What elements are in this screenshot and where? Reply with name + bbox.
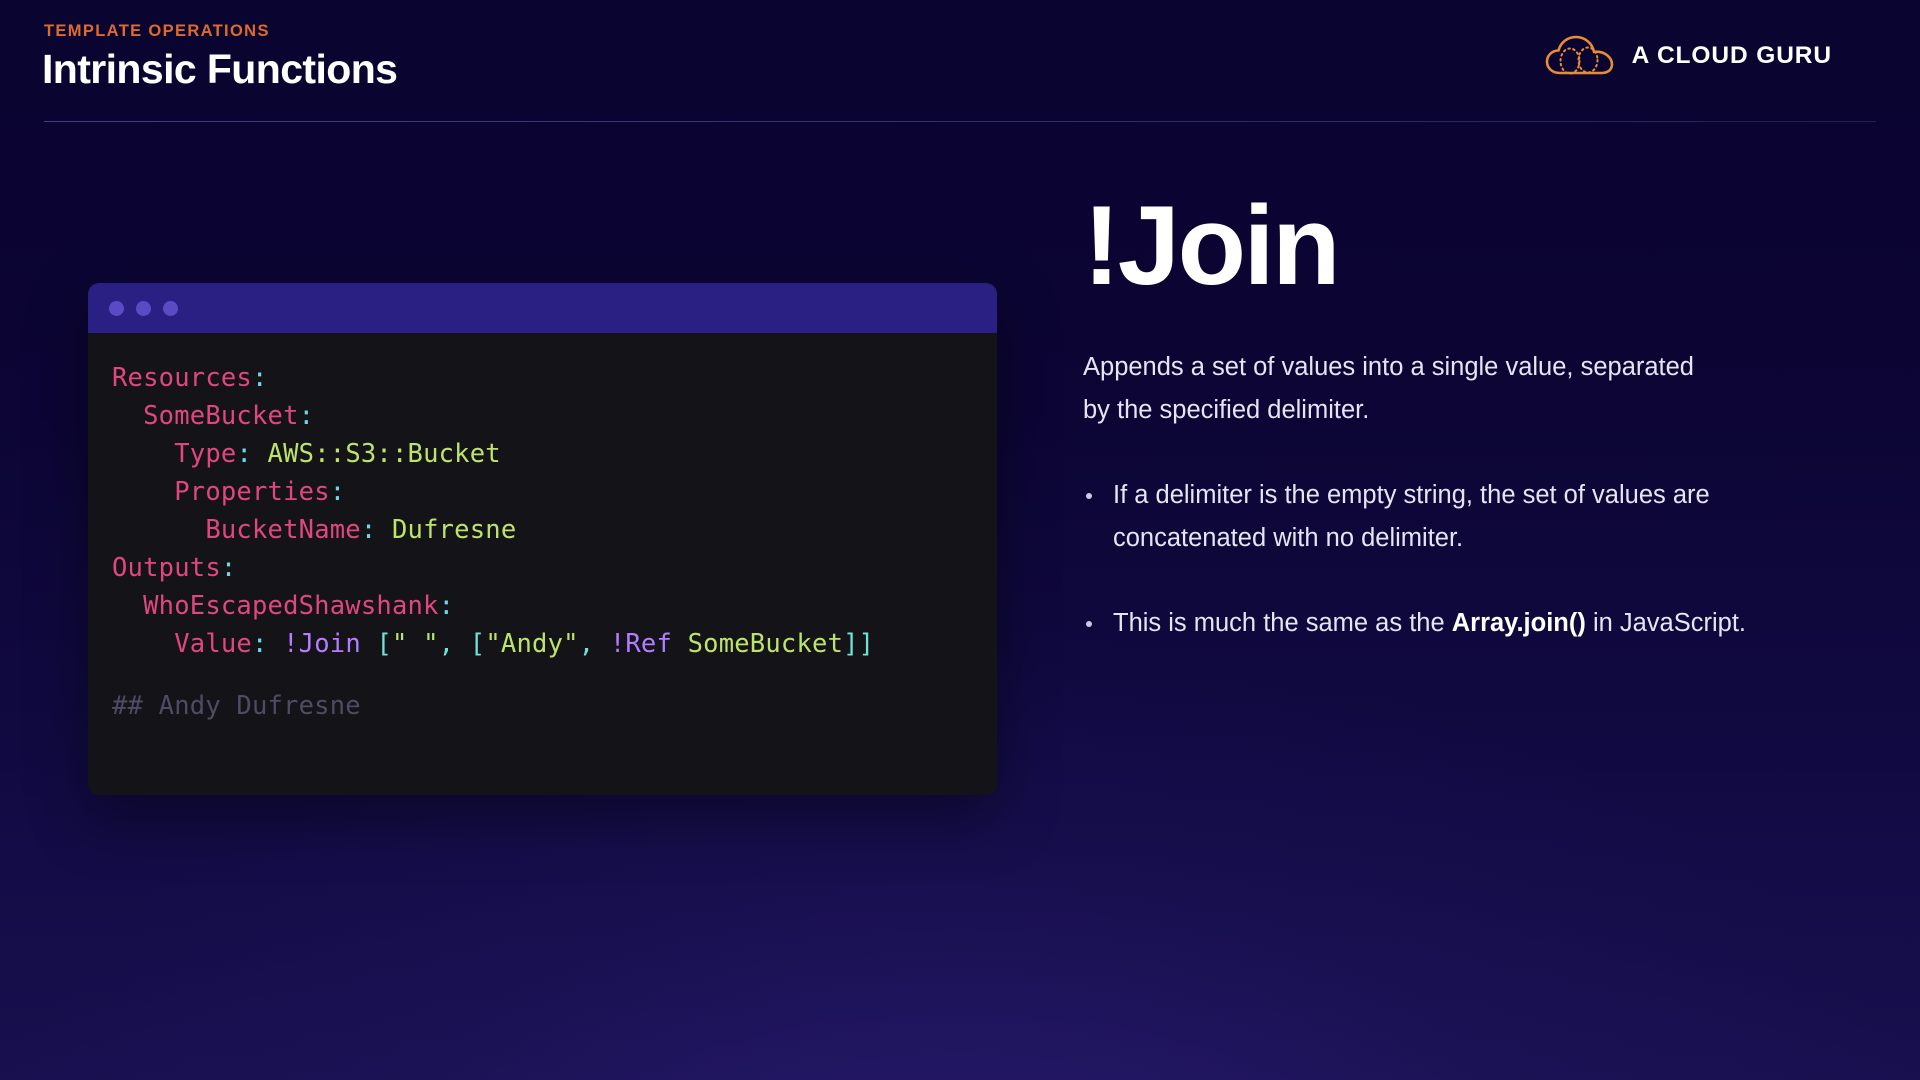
- code-window: Resources: SomeBucket: Type: AWS::S3::Bu…: [88, 283, 997, 795]
- window-dot-close[interactable]: [109, 301, 124, 316]
- bullet-empty-delimiter: If a delimiter is the empty string, the …: [1083, 474, 1813, 560]
- brand-logo: A CLOUD GURU: [1544, 34, 1832, 78]
- code-block: Resources: SomeBucket: Type: AWS::S3::Bu…: [88, 359, 997, 725]
- window-dot-maximize[interactable]: [163, 301, 178, 316]
- window-dot-minimize[interactable]: [136, 301, 151, 316]
- page-title: Intrinsic Functions: [42, 46, 397, 93]
- brand-name: A CLOUD GURU: [1632, 42, 1832, 70]
- function-description: Appends a set of values into a single va…: [1083, 346, 1703, 432]
- line-outputs: Outputs:: [112, 553, 236, 583]
- line-bucketname: BucketName: Dufresne: [112, 515, 516, 545]
- line-type: Type: AWS::S3::Bucket: [112, 439, 501, 469]
- code-window-body: Resources: SomeBucket: Type: AWS::S3::Bu…: [88, 333, 997, 795]
- bullet-array-join: This is much the same as the Array.join(…: [1083, 602, 1813, 645]
- line-value: Value: !Join [" ", ["Andy", !Ref SomeBuc…: [112, 629, 874, 659]
- emphasis-text: Array.join(): [1452, 609, 1586, 637]
- line-whoescaped: WhoEscapedShawshank:: [112, 591, 454, 621]
- bullet-list: If a delimiter is the empty string, the …: [1083, 474, 1813, 645]
- line-comment: ## Andy Dufresne: [112, 691, 361, 721]
- content-column: !Join Appends a set of values into a sin…: [1083, 190, 1843, 645]
- line-somebucket: SomeBucket:: [112, 401, 314, 431]
- line-resources: Resources:: [112, 363, 268, 393]
- line-properties: Properties:: [112, 477, 345, 507]
- cloud-icon: [1544, 34, 1616, 78]
- function-heading: !Join: [1083, 190, 1843, 302]
- slide-eyebrow: TEMPLATE OPERATIONS: [44, 22, 270, 41]
- code-window-titlebar: [88, 283, 997, 333]
- header-divider: [44, 121, 1876, 122]
- line-blank: [112, 663, 997, 687]
- slide-header: TEMPLATE OPERATIONS Intrinsic Functions …: [0, 0, 1920, 146]
